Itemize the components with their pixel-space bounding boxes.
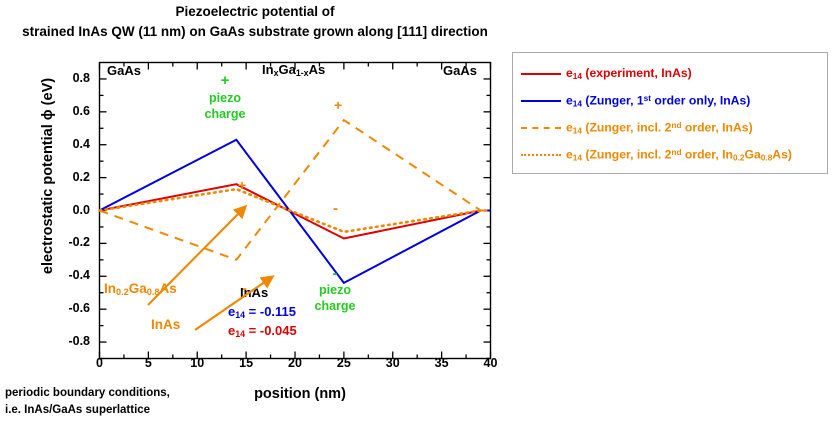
y-tick-label: -0.4 bbox=[46, 268, 90, 282]
piezo-plus-label-line1: piezo bbox=[192, 91, 258, 107]
y-tick-label: -0.6 bbox=[46, 301, 90, 315]
y-tick-label: 0.2 bbox=[46, 170, 90, 184]
figure-caption-line1: periodic boundary conditions, bbox=[5, 385, 170, 402]
piezo-minus-label-line1: piezo bbox=[302, 283, 368, 299]
series-line bbox=[100, 189, 491, 232]
legend-label: e14 (Zunger, incl. 2nd order, In0.2Ga0.8… bbox=[566, 147, 792, 162]
piezo-plus-sign: + bbox=[197, 72, 253, 89]
region-label-right: GaAs bbox=[443, 63, 477, 78]
piezo-plus-label: piezo charge bbox=[192, 91, 258, 122]
arrow-label-inas: InAs bbox=[151, 317, 180, 332]
y-tick-label: -0.2 bbox=[46, 235, 90, 249]
legend-line-sample bbox=[521, 68, 561, 80]
piezo-plus-label-line2: charge bbox=[192, 107, 258, 123]
material-label-inas: InAs bbox=[240, 285, 268, 300]
legend-zunger-first-order-inas[interactable]: e14 (Zunger, 1st order only, InAs) bbox=[521, 87, 827, 114]
figure-caption-line2: i.e. InAs/GaAs superlattice bbox=[5, 402, 170, 419]
piezo-minus-label-line2: charge bbox=[302, 299, 368, 315]
legend-zunger-second-order-inas[interactable]: e14 (Zunger, incl. 2nd order, InAs) bbox=[521, 114, 827, 141]
piezo-minus-label: piezo charge bbox=[302, 283, 368, 314]
region-label-middle: InxGa1-xAs bbox=[262, 62, 325, 78]
orange-plus-marker-right: + bbox=[334, 97, 342, 113]
y-tick-label: 0.6 bbox=[46, 104, 90, 118]
y-tick-label: 0.4 bbox=[46, 137, 90, 151]
legend-line-sample bbox=[521, 95, 561, 107]
legend-experiment-inas[interactable]: e14 (experiment, InAs) bbox=[521, 60, 827, 87]
series-line bbox=[100, 120, 491, 260]
chart-legend: e14 (experiment, InAs)e14 (Zunger, 1st o… bbox=[512, 52, 828, 174]
y-tick-label: 0.8 bbox=[46, 71, 90, 85]
region-label-left: GaAs bbox=[107, 63, 141, 78]
data-series-group bbox=[100, 120, 491, 283]
legend-label: e14 (Zunger, incl. 2nd order, InAs) bbox=[566, 120, 753, 135]
legend-line-sample bbox=[521, 149, 561, 161]
orange-plus-marker-left: + bbox=[238, 177, 246, 193]
orange-minus-marker-right: - bbox=[333, 200, 338, 217]
legend-label: e14 (Zunger, 1st order only, InAs) bbox=[566, 93, 750, 108]
legend-line-sample bbox=[521, 122, 561, 134]
legend-label: e14 (experiment, InAs) bbox=[566, 66, 692, 81]
y-tick-label: -0.8 bbox=[46, 334, 90, 348]
piezo-minus-sign: - bbox=[307, 265, 363, 282]
y-tick-label: 0.0 bbox=[46, 203, 90, 217]
legend-zunger-second-order-ingaas[interactable]: e14 (Zunger, incl. 2nd order, In0.2Ga0.8… bbox=[521, 141, 827, 168]
e14-value-blue: e14 = -0.115 bbox=[228, 304, 296, 320]
x-axis-label: position (nm) bbox=[165, 386, 435, 402]
e14-value-red: e14 = -0.045 bbox=[228, 323, 297, 339]
figure-caption: periodic boundary conditions, i.e. InAs/… bbox=[5, 385, 170, 420]
arrow-label-ingaas: In0.2Ga0.8As bbox=[104, 281, 177, 297]
